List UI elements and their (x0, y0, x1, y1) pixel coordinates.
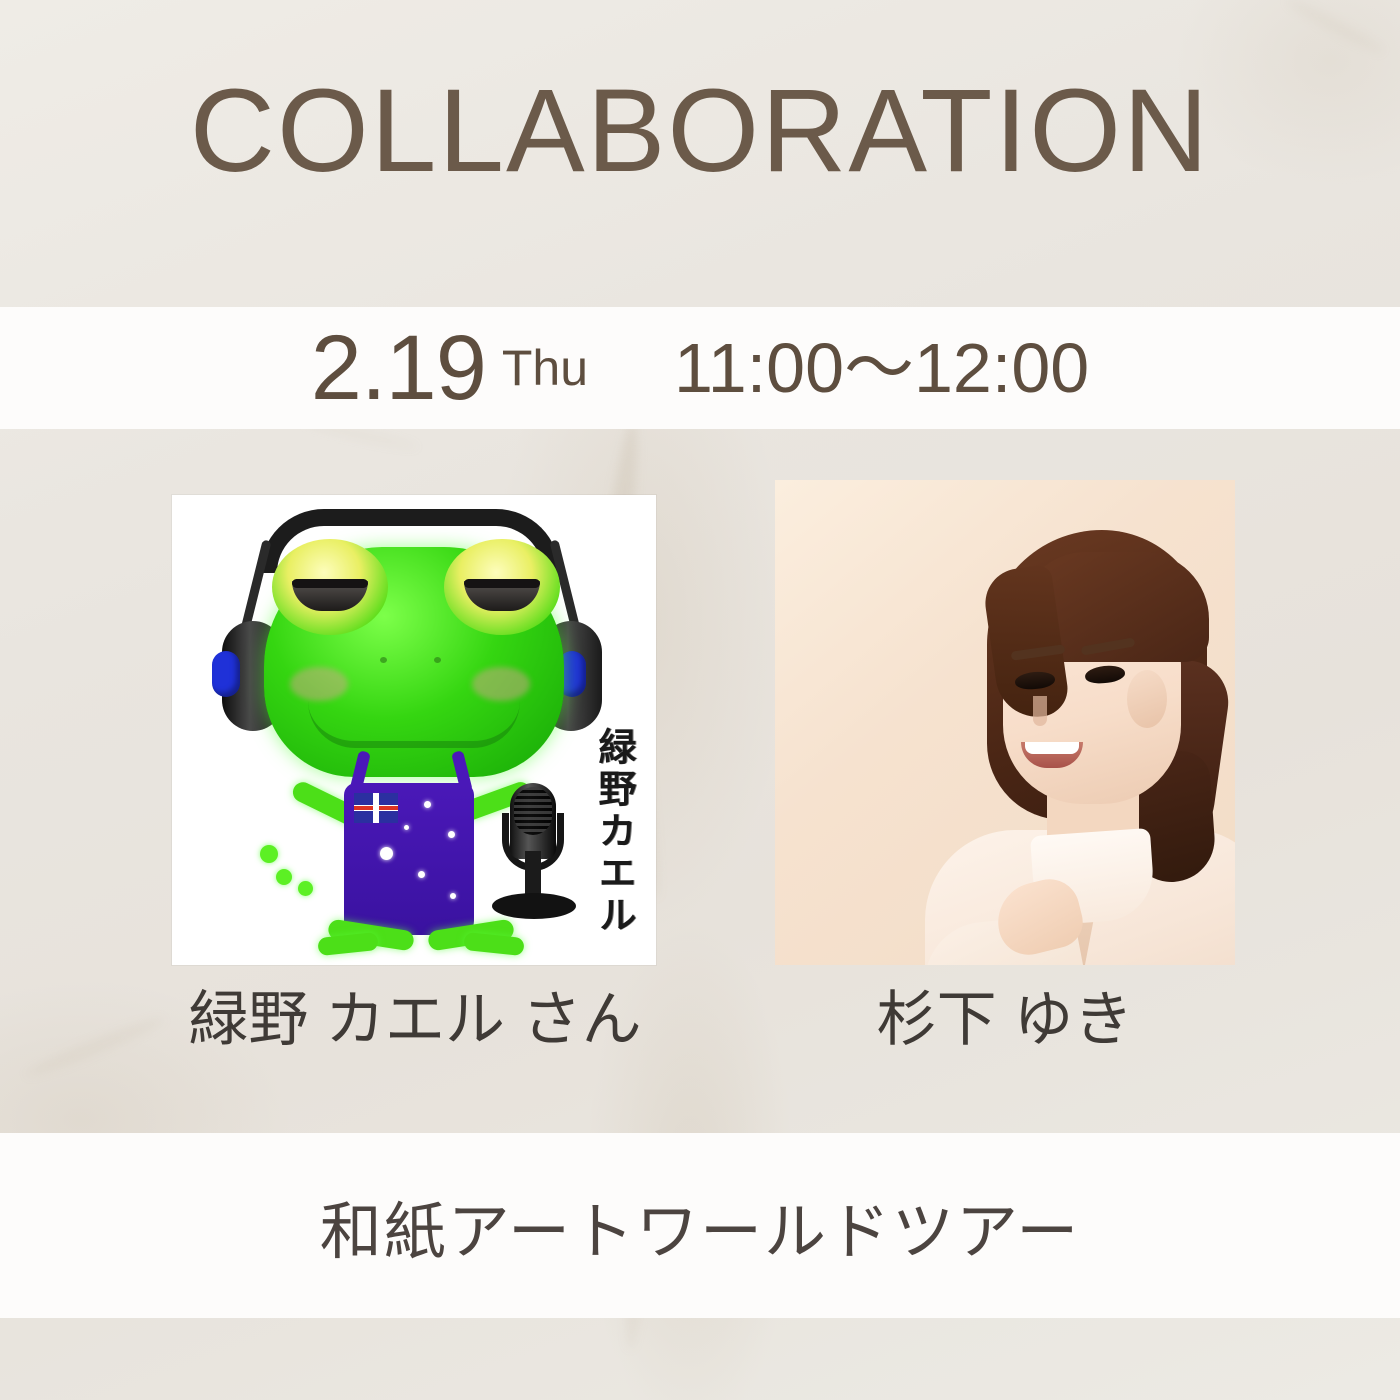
microphone-grille (514, 787, 552, 835)
guest-name-left: 緑野 カエル さん (125, 969, 705, 1059)
microphone-base (492, 893, 576, 919)
frog-cheek-left (290, 667, 348, 701)
guest-name-right: 杉下 ゆき (760, 969, 1250, 1059)
frog-foot-left (317, 932, 379, 956)
photo-ear (1127, 670, 1167, 728)
frog-mouth (308, 701, 520, 748)
flag-star (380, 847, 393, 860)
frog-nostril-left (380, 657, 387, 663)
photo-teeth (1025, 742, 1079, 754)
frog-finger (276, 869, 292, 885)
guests-section: 緑野カエル 緑野 カエ (0, 429, 1400, 1133)
photo-nose (1033, 696, 1047, 726)
collaboration-poster: COLLABORATION 2.19 Thu 11:00〜12:00 (0, 0, 1400, 1400)
guest-avatar-frog: 緑野カエル (172, 495, 656, 965)
union-jack-cross (374, 793, 378, 823)
flag-star (448, 831, 455, 838)
union-jack-icon (354, 793, 398, 823)
marble-vein (1284, 0, 1387, 57)
event-time: 11:00〜12:00 (674, 333, 1089, 403)
page-title: COLLABORATION (0, 70, 1400, 194)
event-weekday: Thu (502, 343, 588, 393)
frog-nostril-right (434, 657, 441, 663)
frog-finger (298, 881, 313, 896)
flag-star (418, 871, 425, 878)
flag-star (450, 893, 456, 899)
headphone-pad-left (212, 651, 240, 697)
frog-eyelash-right (464, 579, 540, 588)
frog-foot-right (463, 932, 525, 956)
flag-star (424, 801, 431, 808)
event-date: 2.19 (311, 322, 486, 414)
avatar-vertical-caption: 緑野カエル (584, 727, 642, 937)
guest-avatar-photo (775, 480, 1235, 965)
frog-finger (260, 845, 278, 863)
frog-eyelash-left (292, 579, 368, 588)
date-time-row: 2.19 Thu 11:00〜12:00 (0, 307, 1400, 429)
event-subtitle: 和紙アートワールドツアー (0, 1133, 1400, 1318)
union-jack-cross (354, 806, 398, 810)
frog-illustration: 緑野カエル (172, 495, 656, 965)
flag-star (404, 825, 409, 830)
frog-cheek-right (472, 667, 530, 701)
